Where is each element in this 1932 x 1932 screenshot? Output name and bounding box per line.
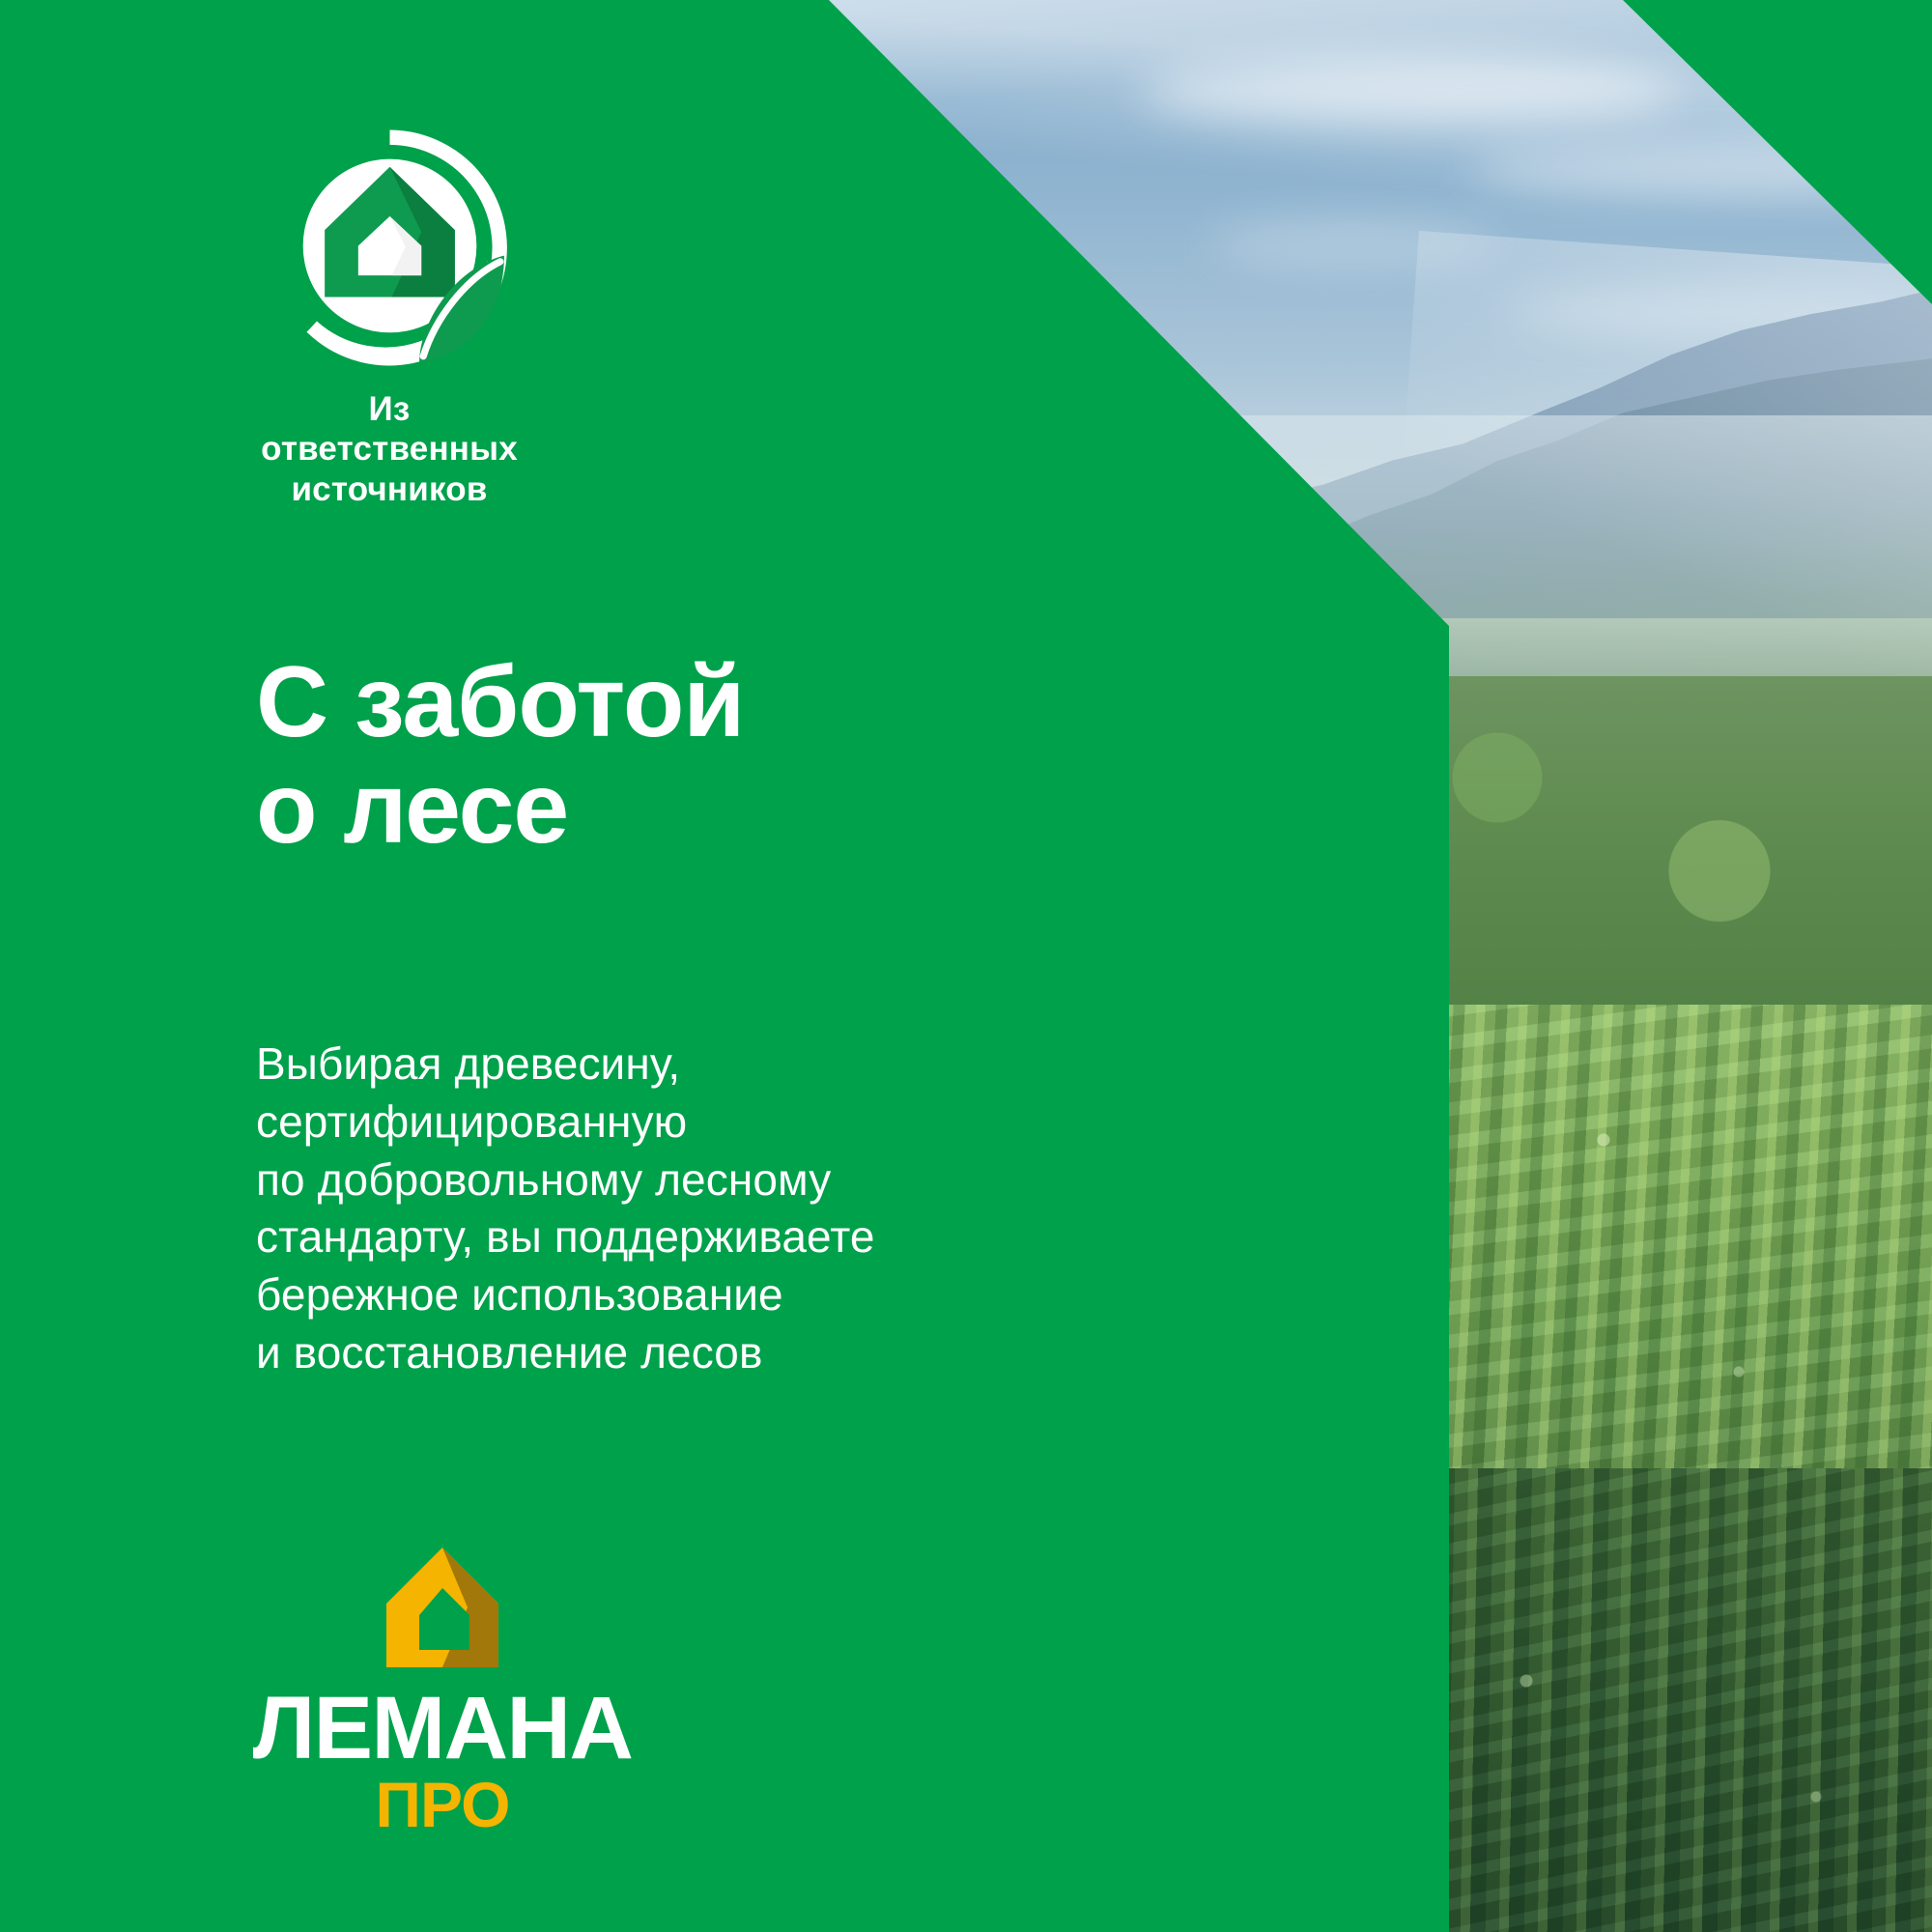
poster-canvas: Из ответственных источников С заботой о … bbox=[0, 0, 1932, 1932]
page-title: С заботой о лесе bbox=[256, 649, 744, 862]
body-paragraph: Выбирая древесину, сертифицированную по … bbox=[256, 1036, 875, 1382]
lemana-wordmark: ЛЕМАНА bbox=[249, 1687, 636, 1771]
eco-certification-badge: Из ответственных источников bbox=[254, 129, 525, 509]
lemana-pro-subword: ПРО bbox=[249, 1773, 636, 1836]
house-leaf-circle-icon bbox=[271, 129, 508, 366]
lemana-house-icon bbox=[381, 1544, 504, 1671]
eco-badge-label: Из ответственных источников bbox=[254, 389, 525, 509]
lemana-pro-logo: ЛЕМАНА ПРО bbox=[249, 1544, 636, 1836]
content-area: Из ответственных источников С заботой о … bbox=[0, 0, 1449, 1932]
